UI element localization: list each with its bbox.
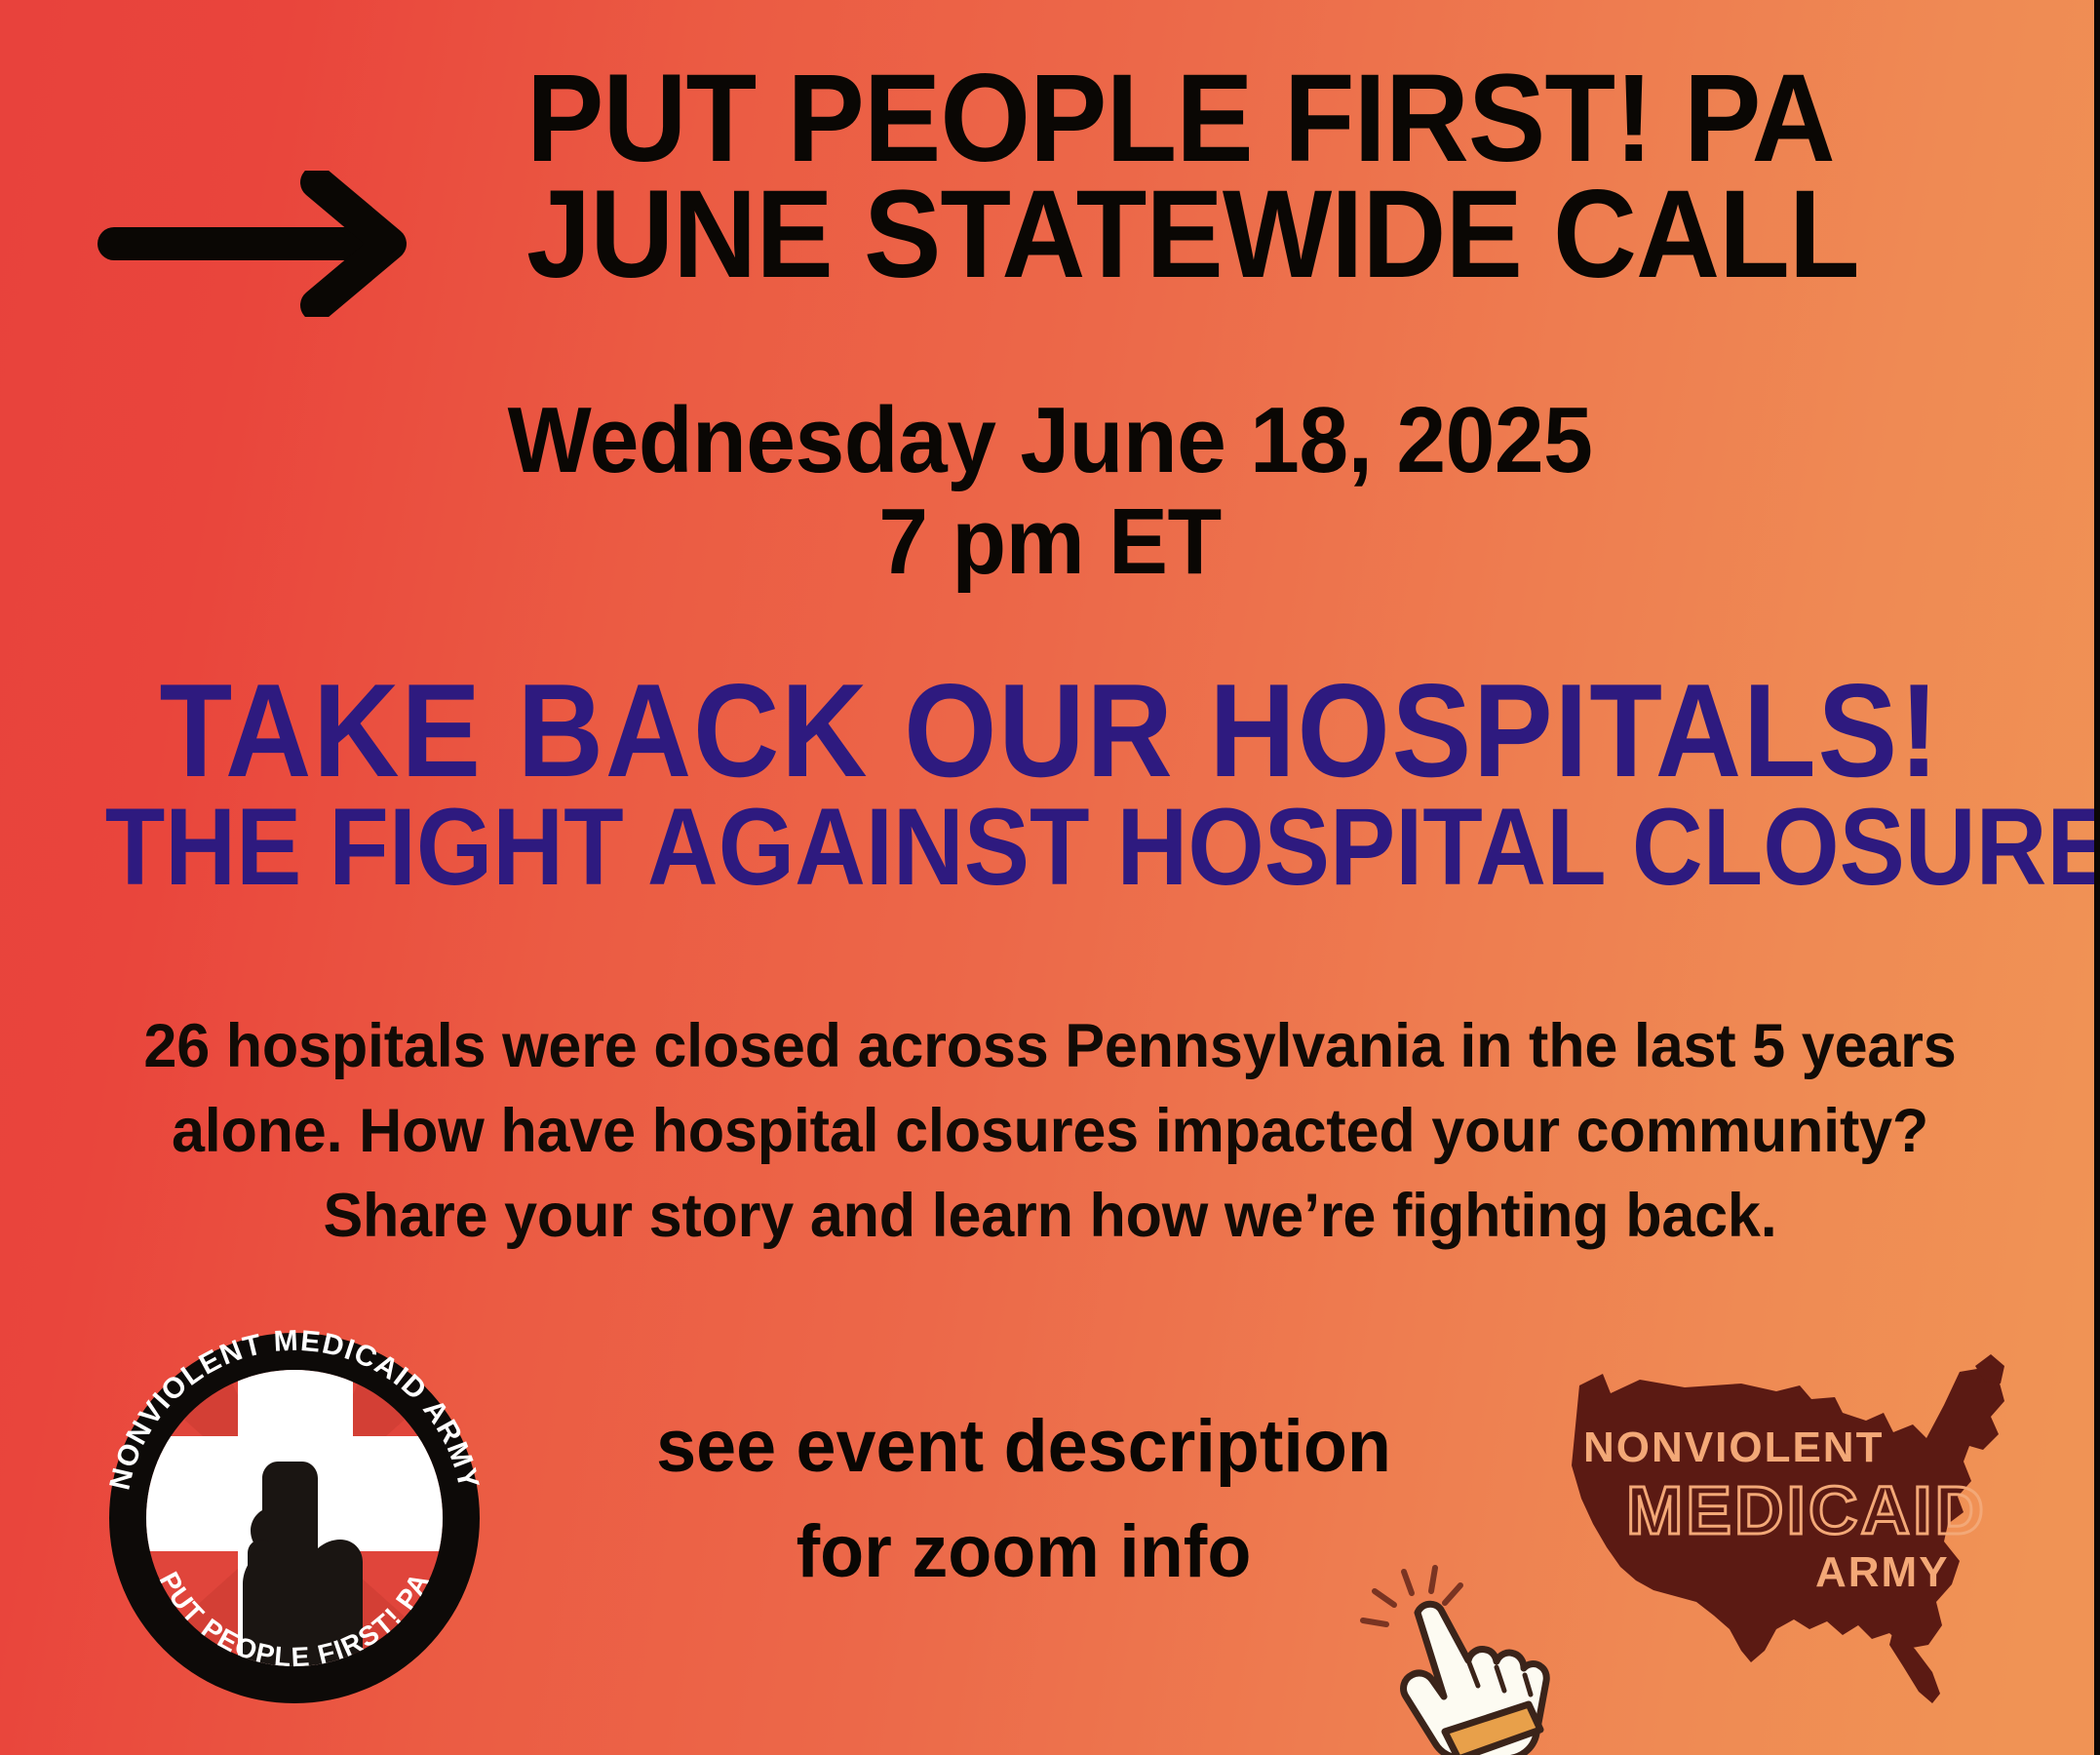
zoom-info-text: see event description for zoom info [585,1394,1462,1605]
event-datetime: Wednesday June 18, 2025 7 pm ET [0,390,2100,592]
event-flyer: PUT PEOPLE FIRST! PA JUNE STATEWIDE CALL… [0,0,2100,1755]
headline: PUT PEOPLE FIRST! PA JUNE STATEWIDE CALL [526,60,1677,292]
event-description: 26 hospitals were closed across Pennsylv… [68,1004,2032,1259]
event-title: TAKE BACK OUR HOSPITALS! THE FIGHT AGAIN… [0,673,2100,899]
pointing-hand-click-cursor-icon [1355,1560,1579,1755]
nma-logo-line-2: MEDICAID [1626,1472,1987,1548]
right-arrow-icon [93,171,424,317]
nma-logo-line-1: NONVIOLENT [1583,1423,1884,1471]
headline-line-2: JUNE STATEWIDE CALL [526,176,1596,292]
description-line-1: 26 hospitals were closed across Pennsylv… [97,1004,2003,1089]
nma-logo-line-3: ARMY [1815,1548,1950,1596]
event-time: 7 pm ET [53,491,2047,593]
nonviolent-medicaid-army-logo: NONVIOLENT MEDICAID ARMY [1550,1341,2018,1731]
right-edge-strip [2094,0,2100,1755]
put-people-first-pa-logo: NONVIOLENT MEDICAID ARMY PUT PEOPLE FIRS… [80,1292,509,1731]
zoom-info-line-1: see event description [599,1394,1450,1500]
zoom-info-line-2: for zoom info [599,1500,1450,1605]
event-date: Wednesday June 18, 2025 [53,390,2047,491]
hand-shape [1404,1604,1547,1755]
description-line-2: alone. How have hospital closures impact… [97,1089,2003,1174]
headline-line-1: PUT PEOPLE FIRST! PA [526,60,1596,176]
event-title-main: TAKE BACK OUR HOSPITALS! [105,673,1996,790]
event-title-subtitle: THE FIGHT AGAINST HOSPITAL CLOSURES [105,796,1996,899]
description-line-3: Share your story and learn how we’re fig… [97,1174,2003,1259]
